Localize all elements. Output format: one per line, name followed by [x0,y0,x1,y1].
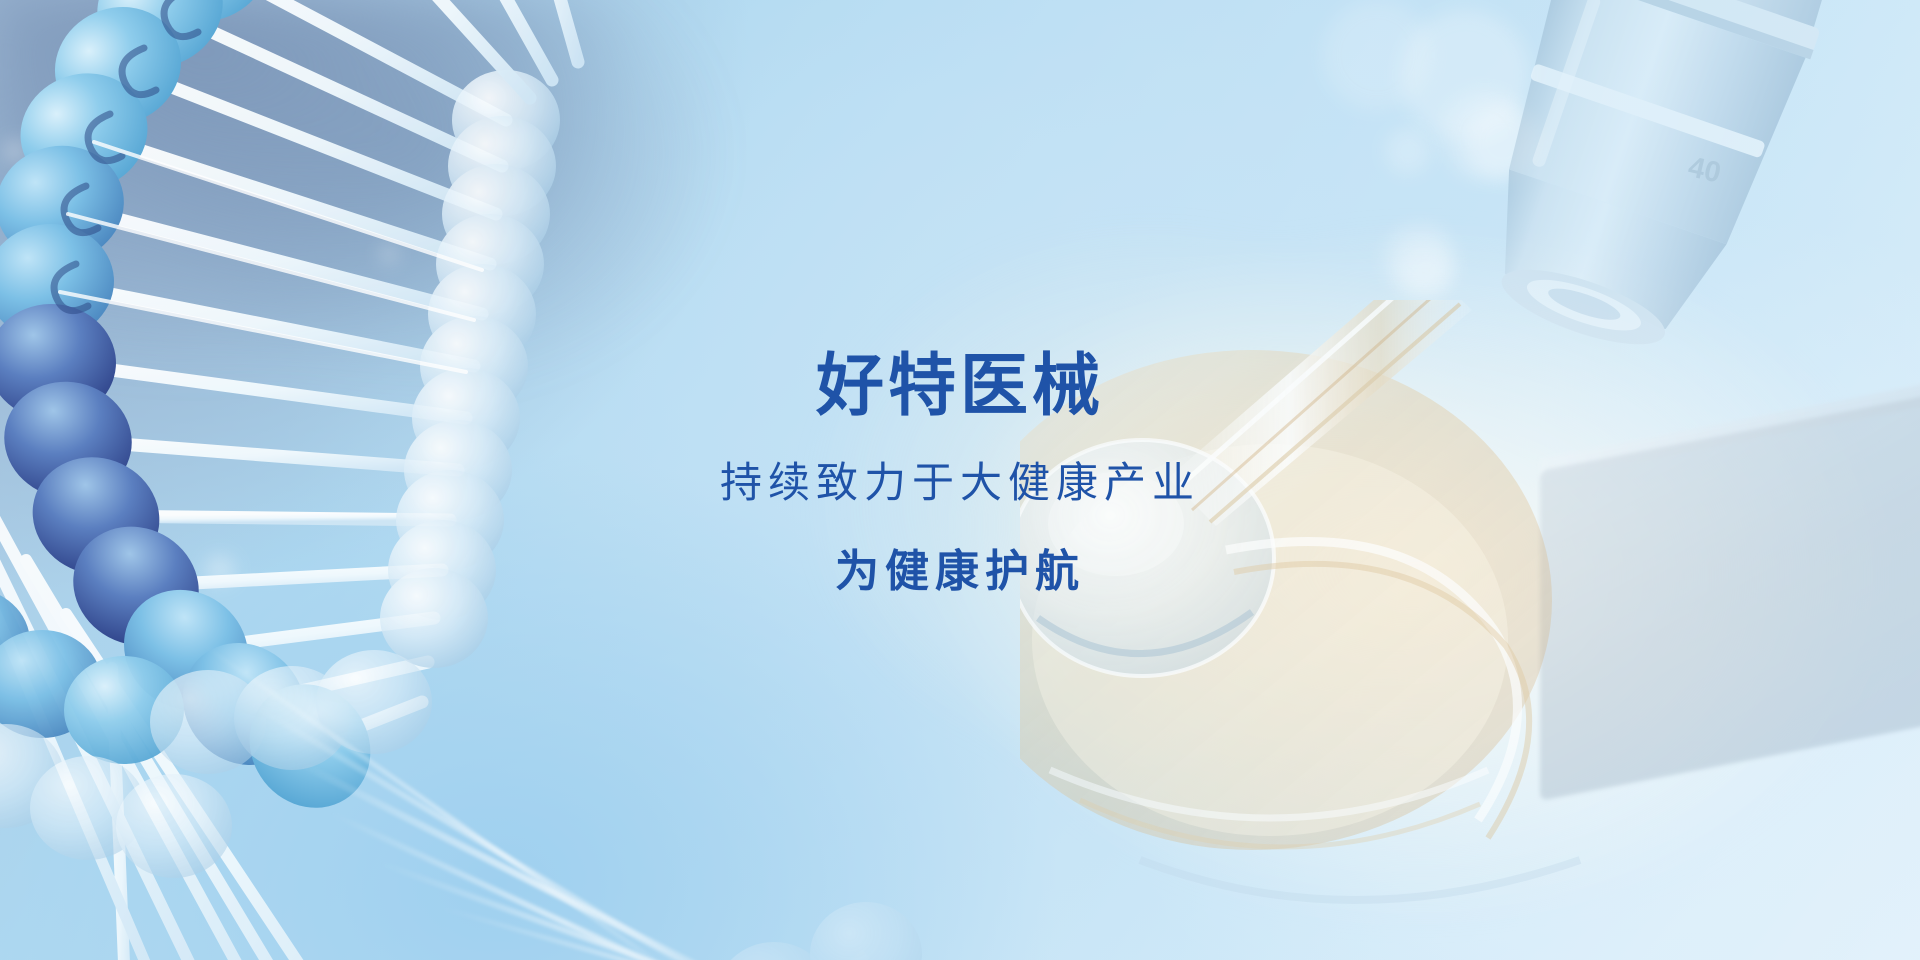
hero-banner: 40 [0,0,1920,960]
page-tagline: 为健康护航 [0,550,1920,594]
page-subtitle: 持续致力于大健康产业 [0,462,1920,504]
hero-text-block: 好特医械 持续致力于大健康产业 为健康护航 [0,352,1920,594]
page-title: 好特医械 [0,352,1920,420]
